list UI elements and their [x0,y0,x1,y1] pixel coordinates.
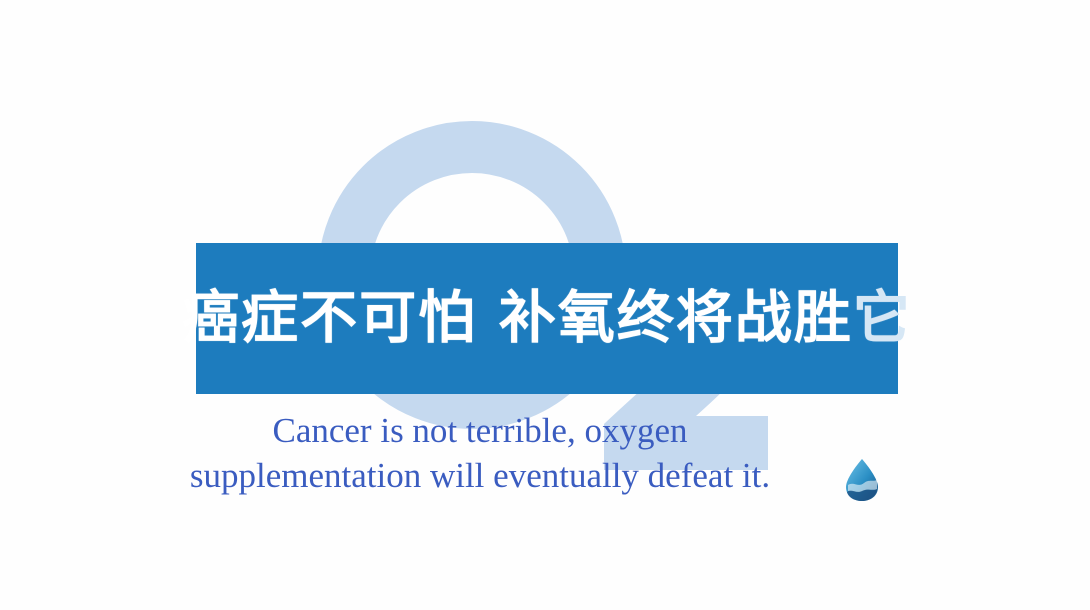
headline-tail: 它 [853,285,912,351]
slide-canvas: 癌症不可怕 补氧终将战胜它 Cancer is not terrible, ox… [0,0,1090,610]
subtitle-text: Cancer is not terrible, oxygen supplemen… [120,408,840,498]
subtitle-line-2: supplementation will eventually defeat i… [120,453,840,498]
subtitle-line-1: Cancer is not terrible, oxygen [120,408,840,453]
water-droplet-icon [843,458,881,502]
headline-banner: 癌症不可怕 补氧终将战胜它 [196,243,898,394]
headline-main: 癌症不可怕 补氧终将战胜 [182,285,853,351]
headline-text: 癌症不可怕 补氧终将战胜它 [182,290,912,347]
